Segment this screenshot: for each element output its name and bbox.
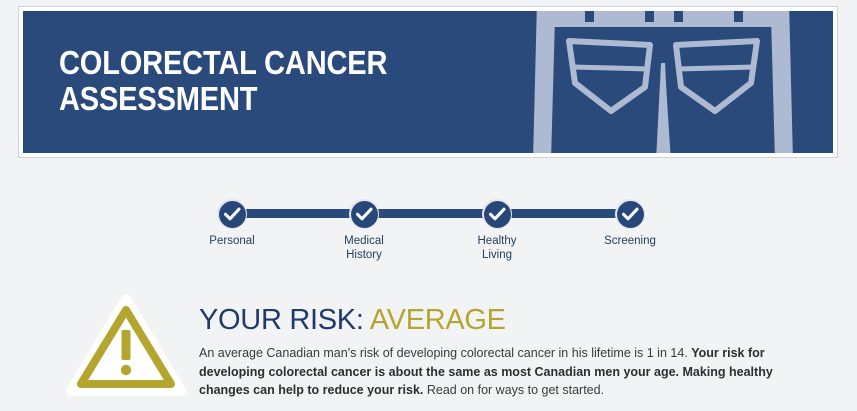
stepper-step-label: Medical History — [309, 235, 419, 262]
stepper-step-medical-history[interactable]: Medical History — [309, 198, 419, 262]
stepper-step-label: Screening — [575, 235, 685, 249]
stepper-step-healthy-living[interactable]: Healthy Living — [442, 198, 552, 262]
check-icon — [351, 201, 378, 228]
risk-description-tail: Read on for ways to get started. — [427, 383, 604, 397]
risk-result-block: YOUR RISK: AVERAGE An average Canadian m… — [199, 303, 819, 400]
stepper-connector-track — [232, 209, 628, 218]
check-icon — [219, 201, 246, 228]
jeans-back-pockets-illustration — [493, 11, 833, 153]
risk-heading-value: AVERAGE — [370, 304, 506, 336]
stepper-step-screening[interactable]: Screening — [575, 198, 685, 249]
page-title: COLORECTAL CANCER ASSESSMENT — [59, 45, 387, 117]
risk-description: An average Canadian man's risk of develo… — [199, 344, 819, 400]
risk-heading-label: YOUR RISK: — [199, 304, 364, 336]
stepper-step-personal[interactable]: Personal — [177, 198, 287, 249]
progress-stepper: Personal Medical History Healthy Living … — [205, 198, 655, 268]
risk-heading: YOUR RISK: AVERAGE — [199, 303, 819, 337]
risk-description-lead: An average Canadian man's risk of develo… — [199, 346, 688, 360]
header-banner-inner: COLORECTAL CANCER ASSESSMENT — [23, 11, 833, 153]
stepper-step-label: Healthy Living — [442, 235, 552, 262]
header-banner: COLORECTAL CANCER ASSESSMENT — [18, 6, 838, 158]
check-icon — [484, 201, 511, 228]
stepper-step-label: Personal — [177, 235, 287, 249]
warning-triangle-icon — [66, 294, 186, 396]
check-icon — [617, 201, 644, 228]
